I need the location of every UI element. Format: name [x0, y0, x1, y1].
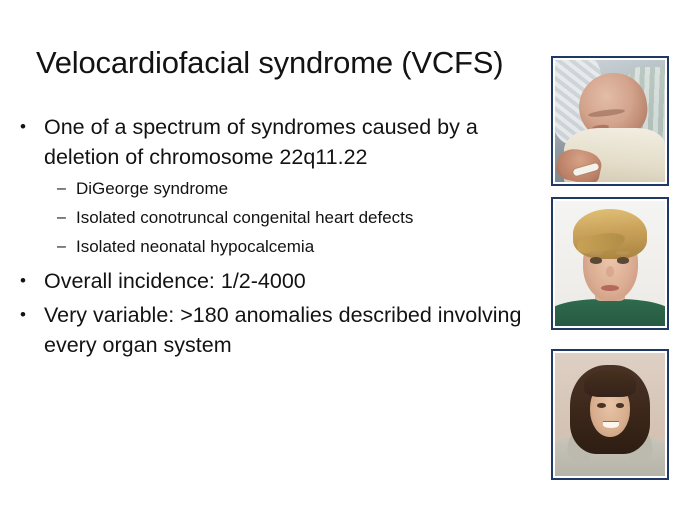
slide: Velocardiofacial syndrome (VCFS) • One o…: [0, 0, 680, 510]
bullet-marker-icon: •: [14, 300, 44, 330]
sub-bullet-item: – Isolated neonatal hypocalcemia: [14, 233, 544, 260]
sub-bullet-item: – DiGeorge syndrome: [14, 175, 544, 202]
bullet-text: Very variable: >180 anomalies described …: [44, 300, 544, 360]
dash-marker-icon: –: [14, 175, 76, 202]
bullet-text: Overall incidence: 1/2-4000: [44, 266, 544, 296]
sub-bullet-text: DiGeorge syndrome: [76, 175, 544, 202]
young-boy-photo: [551, 197, 669, 330]
bullet-marker-icon: •: [14, 112, 44, 142]
bullet-marker-icon: •: [14, 266, 44, 296]
dash-marker-icon: –: [14, 204, 76, 231]
newborn-infant-photo: [551, 56, 669, 186]
teenage-girl-photo: [551, 349, 669, 480]
bullet-item: • One of a spectrum of syndromes caused …: [14, 112, 544, 172]
bullet-item: • Overall incidence: 1/2-4000: [14, 266, 544, 296]
photo-column: [551, 56, 669, 480]
bullet-item: • Very variable: >180 anomalies describe…: [14, 300, 544, 360]
page-title: Velocardiofacial syndrome (VCFS): [36, 44, 556, 82]
sub-bullet-text: Isolated conotruncal congenital heart de…: [76, 204, 544, 231]
bullet-text: One of a spectrum of syndromes caused by…: [44, 112, 544, 172]
dash-marker-icon: –: [14, 233, 76, 260]
slide-body: • One of a spectrum of syndromes caused …: [14, 112, 544, 362]
sub-bullet-text: Isolated neonatal hypocalcemia: [76, 233, 544, 260]
sub-bullet-item: – Isolated conotruncal congenital heart …: [14, 204, 544, 231]
sub-bullet-list: – DiGeorge syndrome – Isolated conotrunc…: [14, 175, 544, 260]
